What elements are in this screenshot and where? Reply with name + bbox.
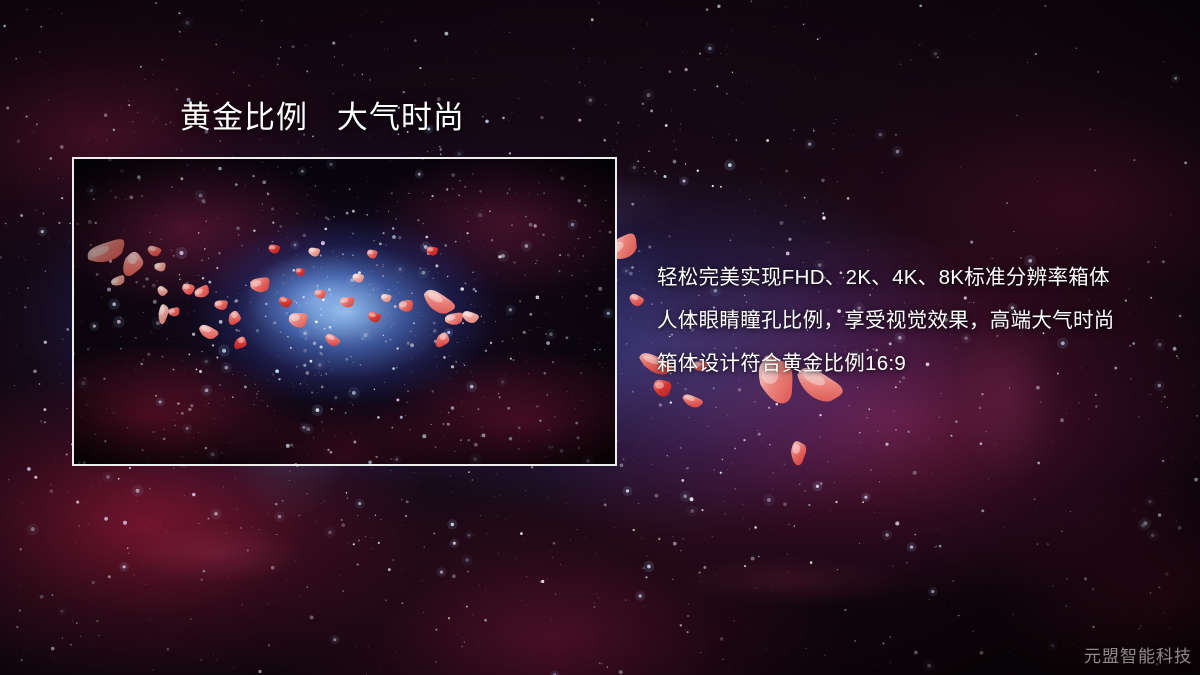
preview-panel-frame[interactable]	[72, 157, 617, 466]
body-line-2: 人体眼睛瞳孔比例，享受视觉效果，高端大气时尚	[657, 299, 1177, 342]
body-copy-block: 轻松完美实现FHD、2K、4K、8K标准分辨率箱体 人体眼睛瞳孔比例，享受视觉效…	[657, 256, 1177, 385]
page-title: 黄金比例 大气时尚	[180, 101, 465, 135]
presentation-slide: 黄金比例 大气时尚 轻松完美实现FHD、2K、4K、8K标准分辨率箱体 人体眼睛…	[0, 0, 1200, 675]
watermark: 元盟智能科技	[1084, 642, 1192, 667]
body-line-3: 箱体设计符合黄金比例16:9	[657, 342, 1177, 385]
body-line-1: 轻松完美实现FHD、2K、4K、8K标准分辨率箱体	[657, 256, 1177, 299]
rose-petals-preview	[74, 159, 617, 466]
